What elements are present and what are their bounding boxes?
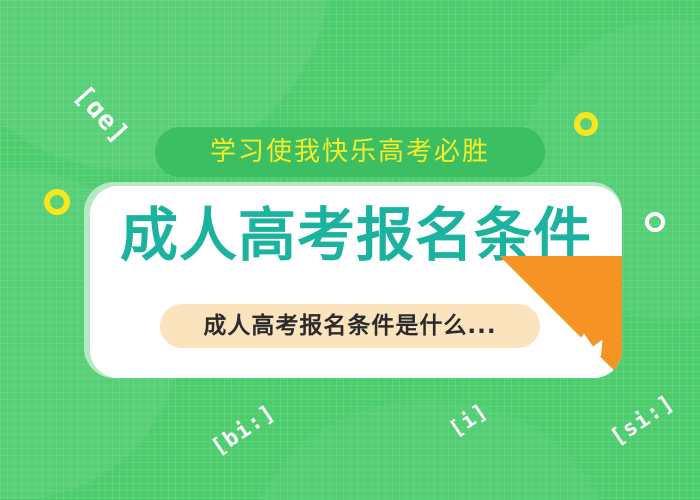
- decorative-ring-yellow-left: [44, 189, 70, 215]
- poster-canvas: [ɑe] [bi:] [i] [si:] 学习使我快乐高考必胜 成人高考报名条件…: [0, 0, 700, 500]
- decorative-ring-white-right: [645, 212, 665, 232]
- corner-accent-wedge: [500, 256, 622, 378]
- crown-icon: [564, 330, 604, 360]
- phonetic-decoration-si: [si:]: [606, 390, 679, 451]
- subtitle-pill: 成人高考报名条件是什么...: [160, 304, 540, 348]
- headline-card: 成人高考报名条件 成人高考报名条件是什么...: [90, 186, 622, 378]
- subtitle-text: 成人高考报名条件是什么...: [203, 315, 496, 338]
- slogan-banner-text: 学习使我快乐高考必胜: [210, 139, 490, 165]
- background-blob-bottom: [250, 400, 610, 500]
- decorative-ring-yellow-right: [574, 112, 598, 136]
- slogan-banner: 学习使我快乐高考必胜: [155, 127, 545, 177]
- phonetic-decoration-bi: [bi:]: [207, 400, 280, 461]
